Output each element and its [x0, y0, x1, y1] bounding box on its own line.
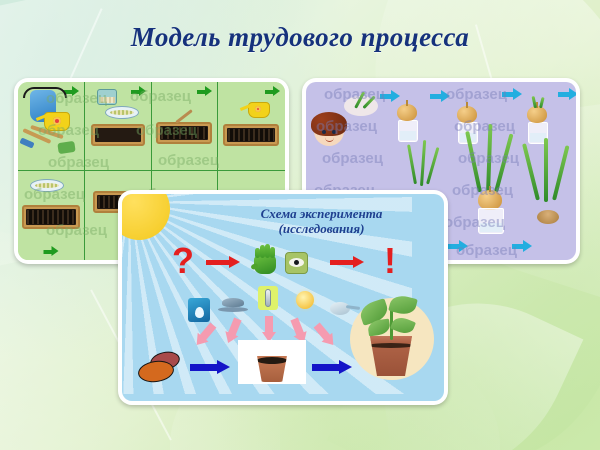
hand-icon: [252, 244, 278, 274]
sun-icon: [292, 288, 318, 312]
air-icon: [328, 300, 360, 318]
onion-green-shoot: [539, 97, 545, 108]
girl-face-icon: [314, 116, 344, 146]
cloth-icon: [57, 141, 75, 154]
watermark-text: образец: [322, 150, 383, 167]
center-panel-inner: Схема эксперимента (исследования) ? !: [122, 194, 444, 401]
grid-cell-tools[interactable]: [18, 82, 85, 171]
planted-pot-icon: [255, 356, 289, 382]
eye-icon: [285, 252, 308, 274]
green-arrow-icon: [131, 86, 146, 97]
watering-can-icon: [248, 102, 270, 118]
water-icon: [188, 298, 210, 322]
sprouted-box-icon: [22, 205, 80, 229]
green-arrow-icon: [265, 86, 280, 97]
onion-icon: [478, 190, 502, 210]
blue-arrow-icon: [448, 240, 468, 253]
seed-dish-icon: [105, 106, 139, 119]
watermark-text: образец: [446, 86, 507, 103]
onion-roots-icon: [537, 210, 559, 224]
watering-can-icon: [44, 112, 70, 131]
experiment-scheme-title: Схема эксперимента (исследования): [214, 206, 429, 236]
onion-green-shoot: [494, 134, 513, 193]
blue-arrow-icon: [558, 88, 576, 101]
scheme-title-line-2: (исследования): [214, 221, 429, 236]
sown-soil-box-icon: [223, 124, 279, 146]
page-title: Модель трудового процесса: [0, 22, 600, 53]
glass-jar-icon: [398, 120, 418, 142]
blue-arrow-icon: [190, 360, 230, 375]
planted-pot-photo: [238, 340, 306, 384]
green-arrow-icon: [43, 246, 58, 257]
experiment-scheme-panel[interactable]: Схема эксперимента (исследования) ? !: [118, 190, 448, 405]
onion-green-shoot: [407, 144, 417, 184]
soil-icon: [218, 296, 248, 312]
onion-green-shoot: [544, 138, 548, 202]
onion-icon: [397, 104, 417, 121]
grid-cell-marking-furrows[interactable]: [152, 82, 219, 171]
slide-canvas: Модель трудового процесса: [0, 0, 600, 450]
onion-green-shoot: [420, 140, 426, 186]
seed-jar-icon: [97, 89, 117, 105]
onion-icon: [457, 106, 477, 123]
onion-green-shoot: [522, 143, 540, 200]
soil-box-icon: [156, 122, 212, 144]
onion-green-shoot: [486, 124, 492, 194]
grid-cell-sprouting[interactable]: [18, 171, 85, 260]
rake-head-icon: [19, 137, 34, 148]
grid-cell-watering[interactable]: [218, 82, 285, 171]
exclamation-mark: !: [384, 244, 396, 278]
blue-arrow-icon: [512, 240, 532, 253]
red-arrow-icon: [206, 256, 240, 269]
onion-icon: [527, 106, 547, 123]
onion-green-shoot: [426, 147, 439, 184]
glass-jar-icon: [478, 208, 504, 234]
thermometer-icon: [258, 286, 278, 310]
red-arrow-icon: [330, 256, 364, 269]
blue-arrow-icon: [380, 90, 400, 103]
soil-box-icon: [91, 124, 145, 146]
green-arrow-icon: [197, 86, 212, 97]
onion-green-shoot: [552, 145, 569, 200]
grid-cell-seeds[interactable]: [85, 82, 152, 171]
pink-arrow-icon: [262, 316, 276, 342]
question-mark: ?: [172, 244, 194, 278]
scheme-title-line-1: Схема эксперимента: [214, 206, 429, 221]
blue-arrow-icon: [430, 90, 450, 103]
seed-dish-icon: [30, 179, 64, 192]
blue-arrow-icon: [312, 360, 352, 375]
blue-arrow-icon: [502, 88, 522, 101]
seeds-icon: [138, 352, 186, 382]
